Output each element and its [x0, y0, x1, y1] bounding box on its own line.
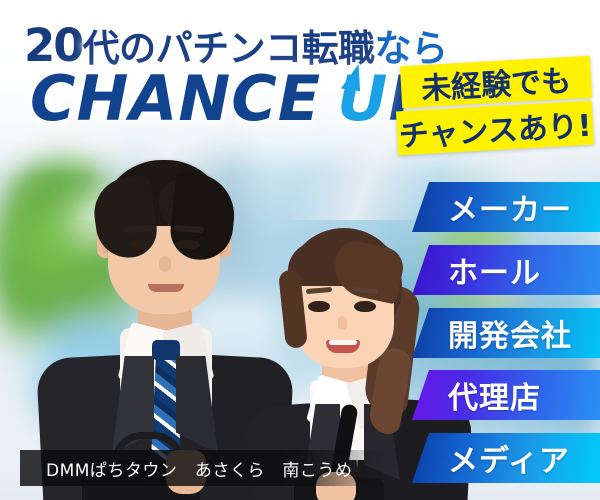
male-eye-left: [128, 240, 152, 249]
badge-no-experience-label: 未経験でも: [420, 56, 572, 108]
ribbon-media[interactable]: メディア: [412, 433, 600, 483]
ribbon-hall-label: ホール: [448, 248, 541, 292]
ribbon-development-company-label: 開発会社: [448, 311, 572, 355]
male-nose: [159, 256, 171, 272]
logo-chance-text: CHANCE: [30, 62, 321, 135]
ribbon-agency-label: 代理店: [448, 373, 541, 417]
caption-text: DMMぱちタウン あさくら 南こうめ: [20, 456, 352, 481]
male-necktie-knot: [152, 340, 180, 360]
female-eye-right: [354, 301, 376, 312]
ribbon-media-label: メディア: [448, 436, 570, 480]
female-teeth: [329, 340, 357, 345]
female-nose: [338, 316, 347, 330]
female-eye-left: [308, 301, 330, 312]
male-eye-right: [176, 240, 200, 249]
advertisement-banner[interactable]: 20代のパチンコ転職なら CHANCEUP 未経験でも チャンスあり! メーカー…: [0, 0, 600, 500]
ribbon-maker[interactable]: メーカー: [412, 182, 600, 232]
ribbon-hall[interactable]: ホール: [412, 245, 600, 295]
male-mouth: [148, 284, 184, 292]
ribbon-agency[interactable]: 代理店: [412, 370, 600, 420]
ribbon-maker-label: メーカー: [448, 185, 572, 229]
ribbon-development-company[interactable]: 開発会社: [412, 308, 600, 358]
caption-bar: DMMぱちタウン あさくら 南こうめ: [20, 450, 386, 486]
brand-logo: CHANCEUP: [30, 68, 435, 130]
